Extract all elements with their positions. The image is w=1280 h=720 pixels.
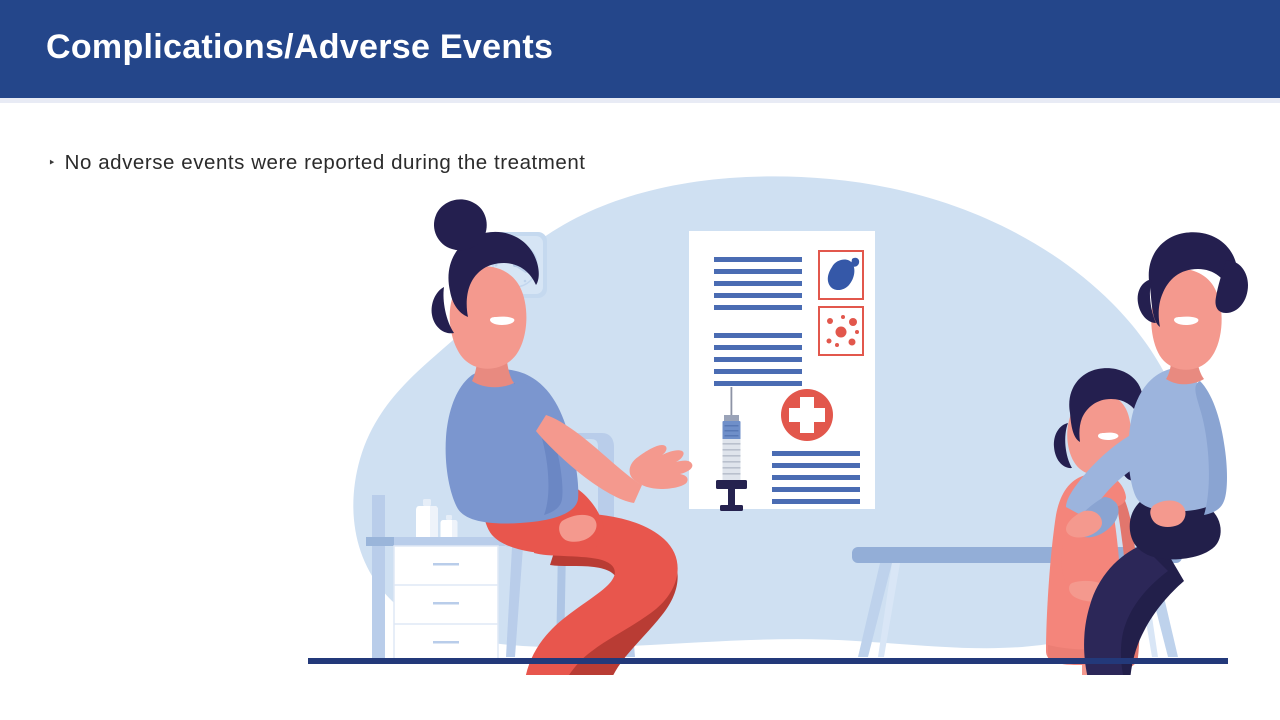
page-title: Complications/Adverse Events: [46, 28, 553, 67]
floor-line: [308, 658, 1228, 664]
medical-cross-icon: [781, 389, 833, 441]
bullet-text: No adverse events were reported during t…: [65, 148, 586, 178]
poster-germs-icon-box: [819, 307, 863, 355]
medical-poster: [689, 231, 875, 511]
slide: Complications/Adverse Events ‣ No advers…: [0, 0, 1280, 720]
poster-organ-icon-box: [819, 251, 863, 299]
bullet-marker-icon: ‣: [48, 148, 56, 178]
clinic-vaccination-illustration: [300, 175, 1250, 675]
header-underline: [0, 98, 1280, 103]
bullet-item: ‣ No adverse events were reported during…: [48, 148, 586, 178]
